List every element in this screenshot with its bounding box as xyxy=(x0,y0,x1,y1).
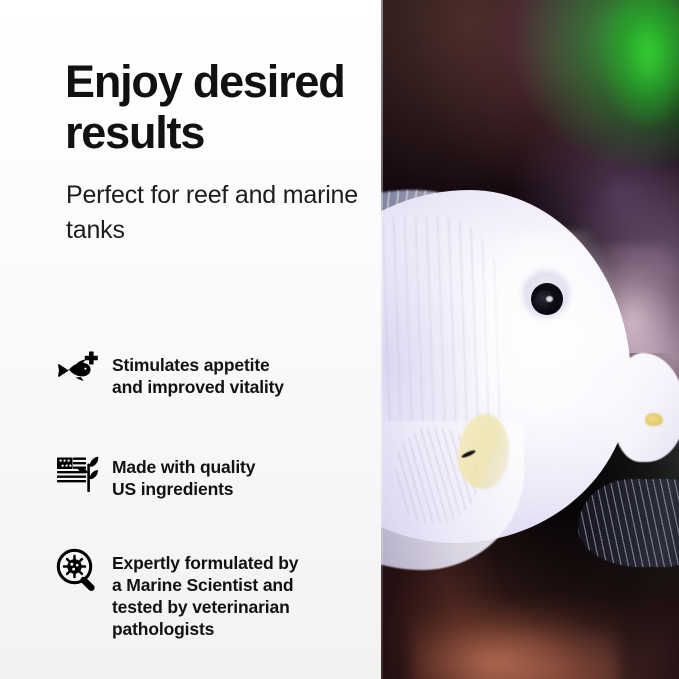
photo-left-edge xyxy=(381,0,383,679)
fish-plus-icon xyxy=(56,348,112,400)
foreground-coral xyxy=(411,598,620,679)
feature-label: Stimulates appetite and improved vitalit… xyxy=(112,348,366,398)
feature-label: Made with quality US ingredients xyxy=(112,450,366,500)
list-item: Made with quality US ingredients xyxy=(56,450,366,502)
feature-label: Expertly formulated by a Marine Scientis… xyxy=(112,546,366,640)
fish-head-highlight xyxy=(470,231,613,448)
product-photo xyxy=(381,0,679,679)
left-content-panel: Enjoy desired results Perfect for reef a… xyxy=(0,0,381,679)
list-item: Stimulates appetite and improved vitalit… xyxy=(56,348,366,400)
us-flag-plant-icon xyxy=(56,450,112,502)
fish-snout xyxy=(613,353,679,462)
fish-mouth xyxy=(645,413,663,426)
feature-list: Stimulates appetite and improved vitalit… xyxy=(56,348,366,640)
product-feature-panel: Enjoy desired results Perfect for reef a… xyxy=(0,0,679,679)
page-title: Enjoy desired results xyxy=(65,56,370,158)
magnifier-microbe-icon xyxy=(56,546,112,598)
green-algae xyxy=(602,0,679,129)
list-item: Expertly formulated by a Marine Scientis… xyxy=(56,546,366,640)
fish-eye-pupil xyxy=(534,290,558,314)
page-subtitle: Perfect for reef and marine tanks xyxy=(66,178,366,248)
